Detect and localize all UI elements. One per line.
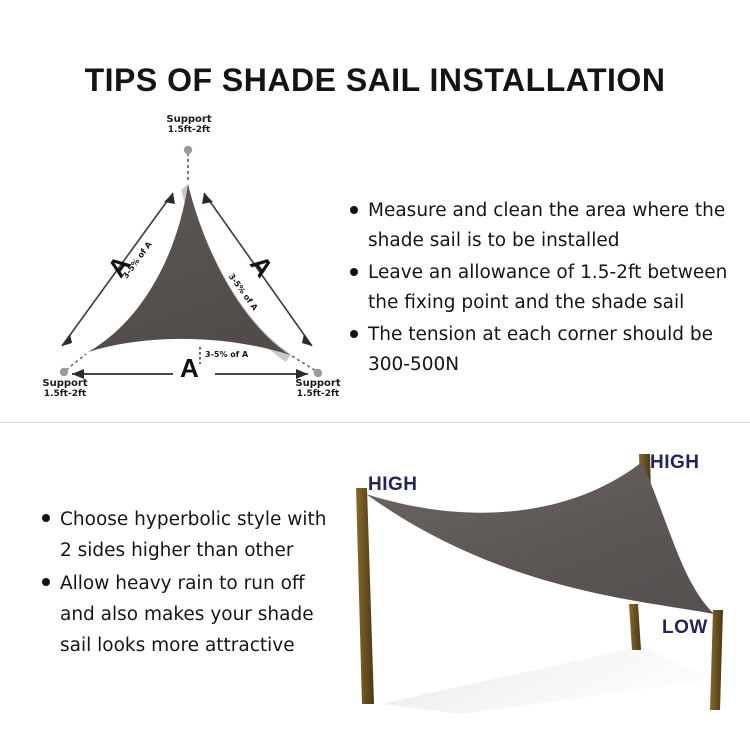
left-support-dropline	[66, 354, 86, 370]
left-measure-arrow-bottom	[62, 334, 72, 346]
hyperbolic-sail-diagram: HIGH HIGH LOW	[342, 432, 742, 724]
triangle-shade-sail-diagram: Support 1.5ft-2ft Support 1.5ft-2ft Supp…	[28, 112, 358, 408]
style-text-1: Choose hyperbolic style with 2 sides hig…	[60, 504, 342, 566]
support-label-bottom-left-distance: 1.5ft-2ft	[34, 389, 96, 400]
list-item: The tension at each corner should be 300…	[350, 320, 730, 380]
tip-text-1: Measure and clean the area where the sha…	[368, 196, 730, 256]
curve-note-bottom: 3-5% of A	[205, 350, 248, 359]
right-support-dot	[314, 369, 322, 377]
page-title: TIPS OF SHADE SAIL INSTALLATION	[0, 62, 750, 99]
support-label-bottom-left-title: Support	[42, 378, 87, 389]
installation-tips-list: Measure and clean the area where the sha…	[350, 196, 730, 382]
post-right	[710, 610, 723, 710]
support-label-top: Support 1.5ft-2ft	[161, 114, 217, 136]
bullet-dot-icon	[42, 514, 50, 522]
tip-text-2: Leave an allowance of 1.5-2ft between th…	[368, 258, 730, 318]
list-item: Allow heavy rain to run off and also mak…	[42, 568, 342, 661]
support-label-top-distance: 1.5ft-2ft	[161, 125, 217, 136]
hyperbolic-style-tips-list: Choose hyperbolic style with 2 sides hig…	[42, 504, 342, 663]
corner-label-low: LOW	[662, 617, 708, 639]
bullet-dot-icon	[42, 578, 50, 586]
list-item: Choose hyperbolic style with 2 sides hig…	[42, 504, 342, 566]
support-label-bottom-right-distance: 1.5ft-2ft	[287, 389, 349, 400]
bullet-dot-icon	[350, 330, 358, 338]
corner-label-high-left: HIGH	[368, 474, 418, 496]
support-label-top-title: Support	[166, 114, 211, 125]
corner-label-high-right: HIGH	[650, 452, 700, 474]
ground-shadow	[382, 646, 714, 714]
right-measure-arrow-bottom	[302, 334, 312, 346]
tip-text-3: The tension at each corner should be 300…	[368, 320, 730, 380]
tips-of-shade-sail-installation-page: TIPS OF SHADE SAIL INSTALLATION	[0, 0, 750, 750]
post-middle	[629, 604, 641, 650]
list-item: Measure and clean the area where the sha…	[350, 196, 730, 256]
support-label-bottom-right-title: Support	[295, 378, 340, 389]
section-divider	[0, 422, 750, 423]
support-label-bottom-left: Support 1.5ft-2ft	[34, 378, 96, 400]
support-label-bottom-right: Support 1.5ft-2ft	[287, 378, 349, 400]
bullet-dot-icon	[350, 206, 358, 214]
post-left	[356, 488, 374, 704]
right-support-dropline	[292, 356, 316, 371]
bullet-dot-icon	[350, 268, 358, 276]
sail-fabric	[366, 462, 714, 614]
side-length-label-bottom: A	[180, 353, 199, 384]
list-item: Leave an allowance of 1.5-2ft between th…	[350, 258, 730, 318]
style-text-2: Allow heavy rain to run off and also mak…	[60, 568, 342, 661]
top-support-dot	[184, 146, 192, 154]
left-support-dot	[60, 368, 68, 376]
